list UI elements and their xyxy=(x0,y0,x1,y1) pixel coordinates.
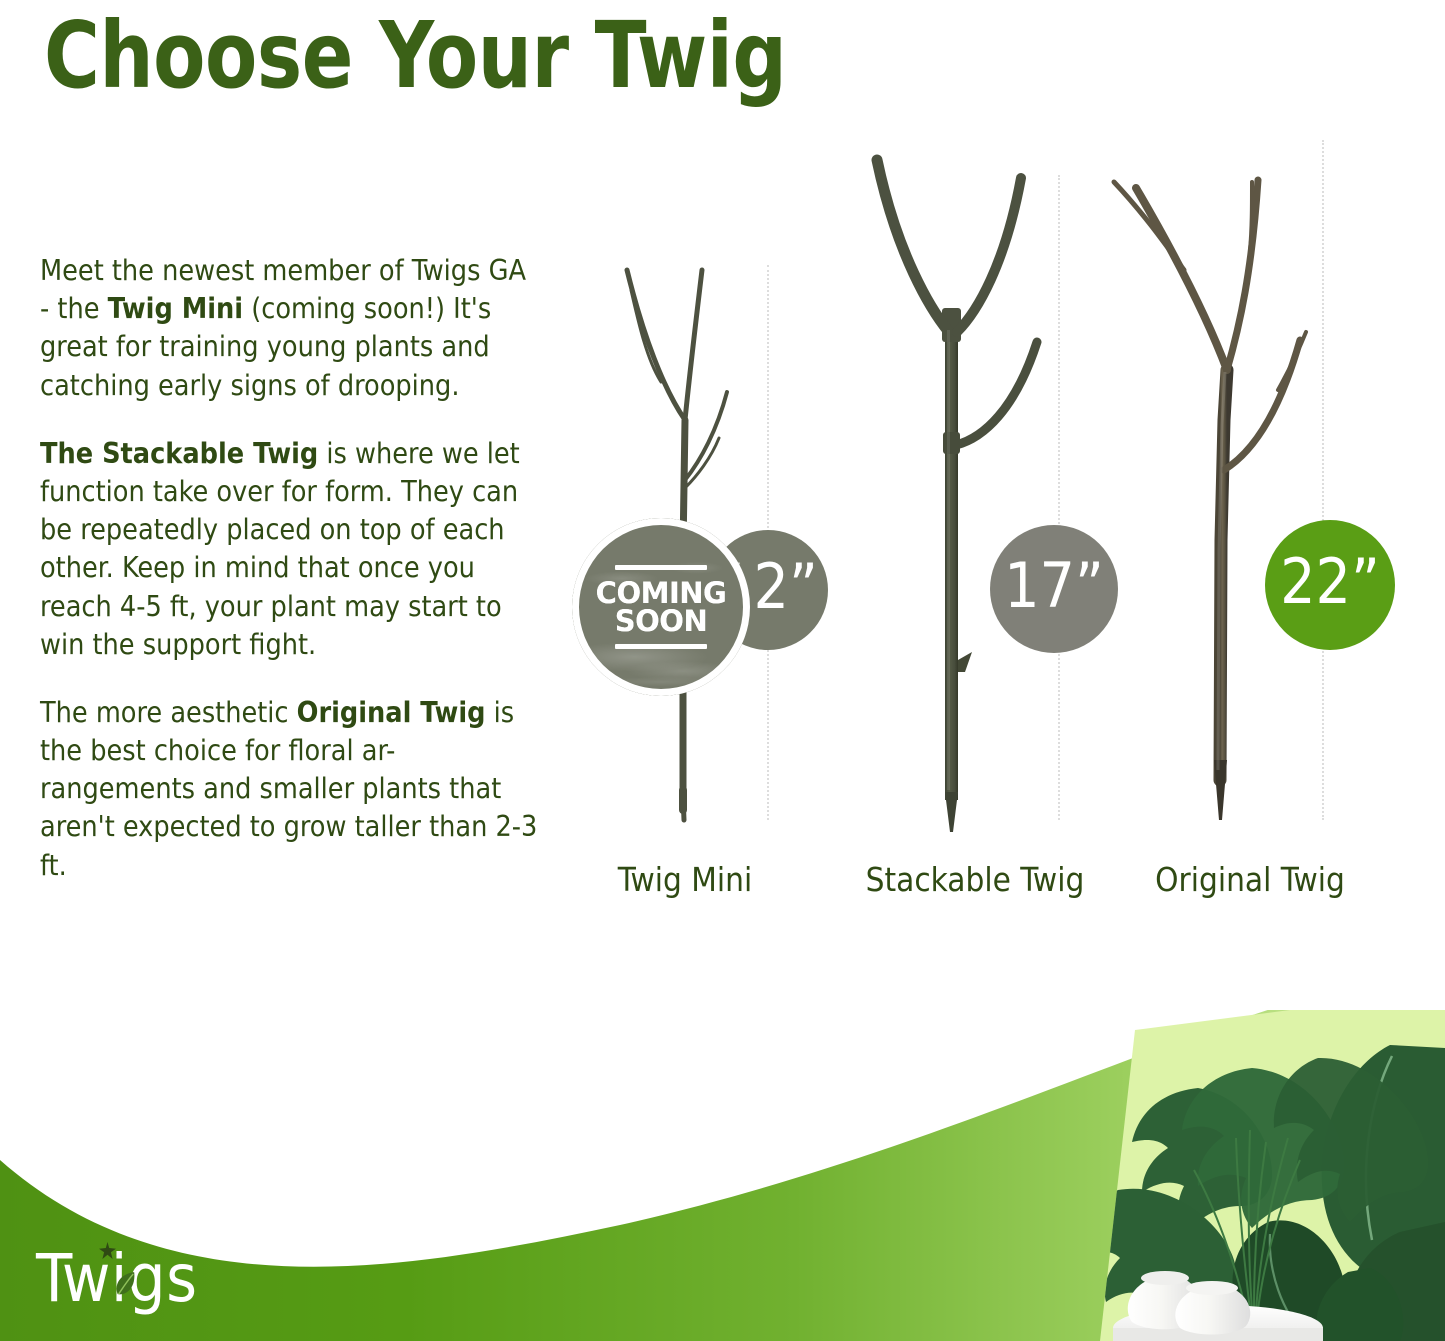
plant-photo-panel xyxy=(1084,1010,1445,1341)
stamp-line-1: COMING xyxy=(596,579,727,607)
product-label-twig-mini: Twig Mini xyxy=(535,860,835,899)
size-badge-original-twig: 22” xyxy=(1265,520,1395,650)
coming-soon-badge: COMING SOON xyxy=(572,518,750,696)
stamp-line-2: SOON xyxy=(596,607,727,635)
size-badge-stackable-twig: 17” xyxy=(990,525,1118,653)
product-original-twig[interactable]: 22” Original Twig xyxy=(1100,120,1400,920)
star-icon xyxy=(99,1242,116,1259)
size-value-original-twig: 22” xyxy=(1280,551,1380,613)
brand-logo: Twigs xyxy=(36,1246,198,1312)
footer-graphic xyxy=(0,1010,1445,1341)
stamp-rule-bottom xyxy=(615,644,707,649)
footer-wave-band xyxy=(0,1010,1445,1341)
original-twig-illustration xyxy=(1100,120,1400,860)
leaf-icon xyxy=(114,1270,136,1300)
product-comparison: 12” Twig Mini xyxy=(0,120,1445,920)
product-label-stackable-twig: Stackable Twig xyxy=(825,860,1125,899)
stamp-rule-top xyxy=(615,565,707,570)
product-label-original-twig: Original Twig xyxy=(1100,860,1400,899)
size-value-stackable-twig: 17” xyxy=(1004,555,1104,617)
stamp-text: COMING SOON xyxy=(596,579,727,636)
stackable-twig-illustration xyxy=(825,120,1125,860)
page-title: Choose Your Twig xyxy=(44,6,786,105)
product-twig-mini[interactable]: 12” Twig Mini xyxy=(535,120,835,920)
twig-mini-illustration xyxy=(535,120,835,860)
product-stackable-twig[interactable]: 17” Stackable Twig xyxy=(825,120,1125,920)
